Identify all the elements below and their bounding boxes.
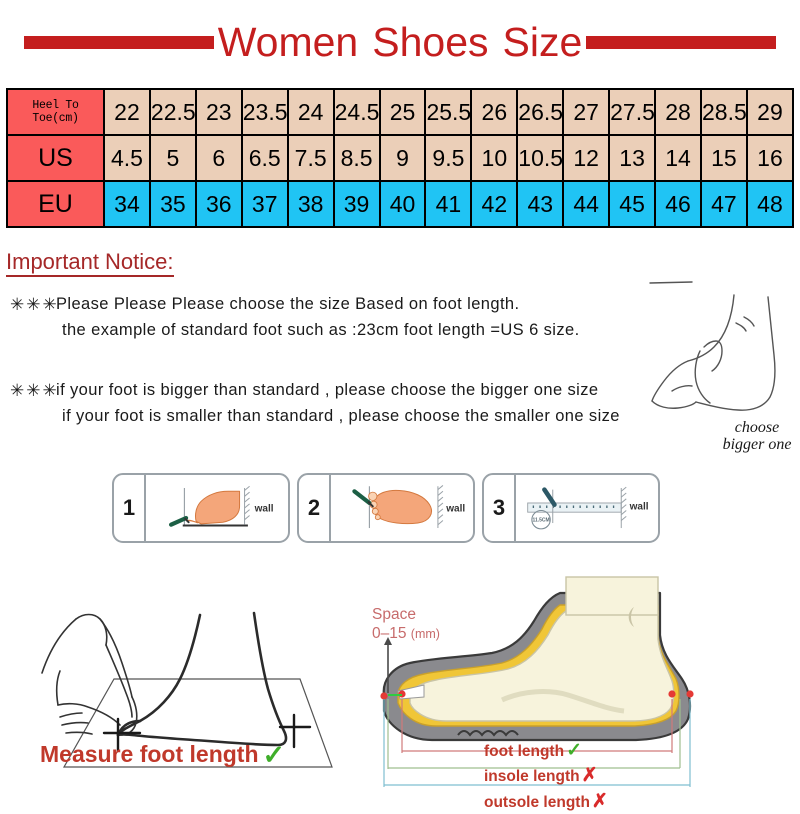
cell-heel-1: 22.5: [150, 89, 196, 135]
cell-eu-11: 45: [609, 181, 655, 227]
notice-line-1: ✳✳✳Please Please Please choose the size …: [10, 292, 580, 318]
cell-eu-2: 36: [196, 181, 242, 227]
cell-heel-8: 26: [471, 89, 517, 135]
foot-length-annotation: foot length✓: [484, 738, 608, 763]
cell-heel-7: 25.5: [425, 89, 471, 135]
cell-us-5: 8.5: [334, 135, 380, 181]
cell-heel-6: 25: [380, 89, 426, 135]
step-3-ruler-badge: 11.5CM: [532, 517, 549, 523]
asterisk-bullet-icon-2: ✳✳✳: [10, 378, 56, 404]
row-header-us: US: [7, 135, 104, 181]
cell-heel-3: 23.5: [242, 89, 288, 135]
step-number-3: 3: [484, 475, 516, 541]
cell-eu-5: 39: [334, 181, 380, 227]
green-check-icon: ✓: [263, 740, 286, 770]
title-text: WomenShoesSize: [218, 22, 583, 63]
notice-line-3: ✳✳✳if your foot is bigger than standard …: [10, 378, 620, 404]
notice-block-2: ✳✳✳if your foot is bigger than standard …: [10, 378, 620, 430]
title-word-women: Women: [218, 19, 359, 65]
notice-line-2: the example of standard foot such as :23…: [10, 318, 580, 344]
space-range: 0–15: [372, 625, 406, 642]
step-3-wall-label: wall: [629, 502, 649, 513]
length-annotations: foot length✓ insole length✗ outsole leng…: [484, 738, 608, 814]
sketch-caption-line-1: choose: [697, 420, 800, 437]
step-2-wall-label: wall: [445, 503, 465, 514]
title-word-size: Size: [503, 19, 583, 65]
measure-label-text: Measure foot length: [40, 741, 259, 767]
title-decor-bar-right: [586, 36, 776, 49]
measure-foot-length-label: Measure foot length✓: [40, 740, 285, 771]
cell-us-12: 14: [655, 135, 701, 181]
step-1-wall-label: wall: [254, 503, 274, 514]
cell-us-14: 16: [747, 135, 793, 181]
table-row-heel-to-toe: Heel To Toe(cm) 22 22.5 23 23.5 24 24.5 …: [7, 89, 793, 135]
cell-eu-14: 48: [747, 181, 793, 227]
cell-heel-12: 28: [655, 89, 701, 135]
notice-block-1: ✳✳✳Please Please Please choose the size …: [10, 292, 580, 344]
cell-us-0: 4.5: [104, 135, 150, 181]
step-panel-1: 1 wall: [112, 473, 290, 543]
title-word-shoes: Shoes: [372, 19, 488, 65]
outsole-length-annotation: outsole length✗: [484, 789, 608, 814]
step-number-2: 2: [299, 475, 331, 541]
check-icon: ✓: [566, 740, 582, 761]
cell-eu-9: 43: [517, 181, 563, 227]
cell-eu-13: 47: [701, 181, 747, 227]
cell-heel-14: 29: [747, 89, 793, 135]
cell-eu-7: 41: [425, 181, 471, 227]
cell-eu-10: 44: [563, 181, 609, 227]
cell-eu-8: 42: [471, 181, 517, 227]
asterisk-bullet-icon: ✳✳✳: [10, 292, 56, 318]
insole-length-label: insole length: [484, 768, 580, 785]
cell-us-13: 15: [701, 135, 747, 181]
cell-us-1: 5: [150, 135, 196, 181]
cell-heel-5: 24.5: [334, 89, 380, 135]
space-unit: (mm): [411, 627, 440, 641]
step-number-1: 1: [114, 475, 146, 541]
cell-eu-12: 46: [655, 181, 701, 227]
insole-length-annotation: insole length✗: [484, 763, 608, 788]
cell-heel-9: 26.5: [517, 89, 563, 135]
cell-us-8: 10: [471, 135, 517, 181]
space-annotation: Space 0–15 (mm): [372, 605, 440, 644]
outsole-length-label: outsole length: [484, 794, 590, 811]
notice-text-1: Please Please Please choose the size Bas…: [56, 295, 520, 313]
sketch-caption: choose bigger one: [697, 420, 800, 454]
cell-us-10: 12: [563, 135, 609, 181]
cell-eu-6: 40: [380, 181, 426, 227]
measurement-steps: 1 wall 2: [112, 473, 660, 543]
page-title: WomenShoesSize: [0, 16, 800, 68]
space-label-line-2: 0–15 (mm): [372, 624, 440, 643]
cell-eu-1: 35: [150, 181, 196, 227]
cell-heel-10: 27: [563, 89, 609, 135]
step-1-illustration: wall: [146, 475, 288, 541]
cell-heel-4: 24: [288, 89, 334, 135]
cell-us-11: 13: [609, 135, 655, 181]
foot-sketch-illustration: [648, 255, 800, 440]
notice-line-4: if your foot is smaller than standard , …: [10, 404, 620, 430]
cell-heel-2: 23: [196, 89, 242, 135]
cross-icon-2: ✗: [592, 791, 608, 812]
cell-heel-13: 28.5: [701, 89, 747, 135]
row-header-heel-to-toe: Heel To Toe(cm): [7, 89, 104, 135]
table-row-eu: EU 34 35 36 37 38 39 40 41 42 43 44 45 4…: [7, 181, 793, 227]
cell-us-7: 9.5: [425, 135, 471, 181]
size-chart-table: Heel To Toe(cm) 22 22.5 23 23.5 24 24.5 …: [6, 88, 794, 228]
cell-us-2: 6: [196, 135, 242, 181]
step-panel-2: 2 wall: [297, 473, 475, 543]
table-row-us: US 4.5 5 6 6.5 7.5 8.5 9 9.5 10 10.5 12 …: [7, 135, 793, 181]
cell-us-4: 7.5: [288, 135, 334, 181]
important-notice-heading: Important Notice:: [6, 250, 174, 277]
cell-us-6: 9: [380, 135, 426, 181]
cell-heel-11: 27.5: [609, 89, 655, 135]
notice-text-3: if your foot is bigger than standard , p…: [56, 381, 598, 399]
cell-heel-0: 22: [104, 89, 150, 135]
step-3-illustration: 11.5CM wall: [516, 475, 658, 541]
cell-eu-4: 38: [288, 181, 334, 227]
row-header-eu: EU: [7, 181, 104, 227]
space-label-line-1: Space: [372, 605, 440, 624]
step-panel-3: 3 11.5CM: [482, 473, 660, 543]
sketch-caption-line-2: bigger one: [697, 437, 800, 454]
step-2-illustration: wall: [331, 475, 473, 541]
cell-eu-0: 34: [104, 181, 150, 227]
cell-us-9: 10.5: [517, 135, 563, 181]
title-decor-bar-left: [24, 36, 214, 49]
foot-length-label: foot length: [484, 743, 564, 760]
cell-us-3: 6.5: [242, 135, 288, 181]
cell-eu-3: 37: [242, 181, 288, 227]
cross-icon: ✗: [582, 765, 598, 786]
